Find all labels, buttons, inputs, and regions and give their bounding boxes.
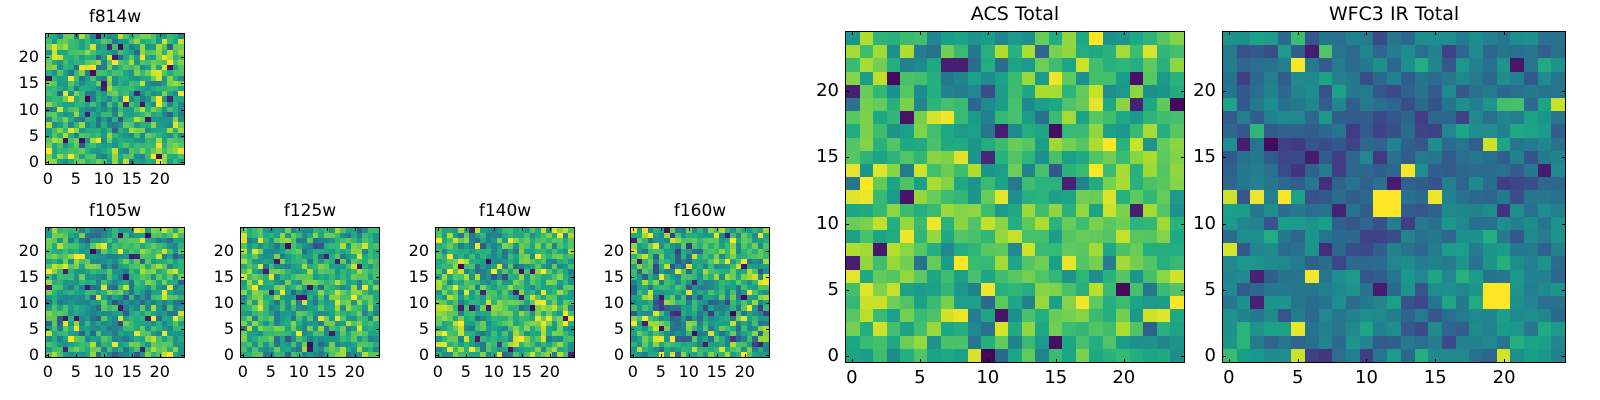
- heatmap-cell: [1538, 72, 1552, 85]
- heatmap-cell: [1387, 243, 1401, 256]
- heatmap-cell: [1049, 45, 1063, 58]
- heatmap-cell: [1237, 296, 1251, 309]
- heatmap-cell: [1103, 230, 1117, 243]
- y-tick: [1222, 356, 1226, 357]
- heatmap-cell: [1076, 45, 1090, 58]
- heatmap-cell: [1237, 72, 1251, 85]
- heatmap-cell: [1264, 58, 1278, 71]
- heatmap-cell: [1401, 111, 1415, 124]
- heatmap-cell: [846, 124, 860, 137]
- heatmap-cell: [941, 138, 955, 151]
- heatmap-cell: [995, 164, 1009, 177]
- heatmap-cell: [1223, 204, 1237, 217]
- heatmap-cell: [846, 256, 860, 269]
- heatmap-cell: [1089, 296, 1103, 309]
- x-tick: [1056, 31, 1057, 35]
- heatmap-cell: [1143, 204, 1157, 217]
- heatmap-cell: [927, 85, 941, 98]
- heatmap-cell: [1442, 230, 1456, 243]
- heatmap-cell: [900, 98, 914, 111]
- heatmap-cell: [981, 138, 995, 151]
- y-tick: [45, 303, 49, 304]
- y-tick: [630, 277, 634, 278]
- x-tick: [1435, 31, 1436, 35]
- heatmap-cell: [981, 309, 995, 322]
- heatmap-cell: [1387, 45, 1401, 58]
- x-tick: [160, 33, 161, 37]
- y-tick: [45, 277, 49, 278]
- heatmap-cell: [1305, 283, 1319, 296]
- heatmap-cell: [995, 243, 1009, 256]
- y-tick: [845, 290, 849, 291]
- y-tick: [1222, 290, 1226, 291]
- heatmap-cell: [900, 204, 914, 217]
- heatmap-cell: [887, 336, 901, 349]
- heatmap-cell: [1035, 98, 1049, 111]
- y-tick: [181, 277, 185, 278]
- heatmap-cell: [1401, 230, 1415, 243]
- heatmap-cell: [1022, 164, 1036, 177]
- heatmap-cell: [1008, 296, 1022, 309]
- heatmap-cell: [1305, 256, 1319, 269]
- x-tick-label: 10: [94, 364, 114, 380]
- heatmap-cell: [1103, 270, 1117, 283]
- heatmap-cell: [1223, 243, 1237, 256]
- heatmap-cell: [1008, 85, 1022, 98]
- heatmap-cell: [1346, 296, 1360, 309]
- heatmap-cell: [1008, 98, 1022, 111]
- heatmap-cell: [1332, 204, 1346, 217]
- heatmap-cell: [846, 322, 860, 335]
- heatmap-cell: [887, 230, 901, 243]
- heatmap-cell: [1237, 151, 1251, 164]
- heatmap-cell: [1291, 270, 1305, 283]
- heatmap-cell: [1524, 98, 1538, 111]
- panel-title-wfc3-ir-total: WFC3 IR Total: [1182, 5, 1600, 24]
- heatmap-cell: [1346, 336, 1360, 349]
- x-tick-label: 20: [150, 171, 170, 187]
- heatmap-cell: [914, 243, 928, 256]
- y-tick: [630, 303, 634, 304]
- heatmap-cell: [873, 45, 887, 58]
- heatmap-cell: [1278, 309, 1292, 322]
- heatmap-cell: [1469, 151, 1483, 164]
- heatmap-cell: [927, 322, 941, 335]
- heatmap-cell: [1035, 151, 1049, 164]
- heatmap-cell: [1483, 58, 1497, 71]
- heatmap-cell: [1524, 349, 1538, 362]
- heatmap-cell: [954, 138, 968, 151]
- heatmap-cell: [1143, 256, 1157, 269]
- heatmap-cell: [1291, 138, 1305, 151]
- heatmap-cell: [1049, 204, 1063, 217]
- heatmap-cell: [1049, 177, 1063, 190]
- heatmap-cell: [1538, 164, 1552, 177]
- heatmap-cell: [1049, 230, 1063, 243]
- heatmap-cell: [1442, 98, 1456, 111]
- heatmap-cell: [1278, 111, 1292, 124]
- y-tick: [766, 277, 770, 278]
- heatmap-cell: [1291, 98, 1305, 111]
- heatmap-cell: [1415, 138, 1429, 151]
- heatmap-cell: [1076, 111, 1090, 124]
- heatmap-cell: [1401, 349, 1415, 362]
- heatmap-cell: [1456, 151, 1470, 164]
- heatmap-cell: [1076, 138, 1090, 151]
- heatmap-cell: [1305, 230, 1319, 243]
- heatmap-cell: [1250, 138, 1264, 151]
- heatmap-cell: [1223, 45, 1237, 58]
- heatmap-cell: [1456, 296, 1470, 309]
- heatmap-cell: [981, 336, 995, 349]
- heatmap-cell: [981, 45, 995, 58]
- heatmap-cell: [1305, 243, 1319, 256]
- heatmap-cell: [1469, 336, 1483, 349]
- heatmap-cell: [1373, 230, 1387, 243]
- x-tick: [243, 227, 244, 231]
- heatmap-cell: [1049, 138, 1063, 151]
- heatmap-cell: [1264, 349, 1278, 362]
- heatmap-cell: [1237, 138, 1251, 151]
- heatmap-cell: [1469, 204, 1483, 217]
- heatmap-cell: [1130, 85, 1144, 98]
- heatmap-cell: [1008, 45, 1022, 58]
- heatmap-cell: [1305, 309, 1319, 322]
- heatmap-cell: [1442, 204, 1456, 217]
- heatmap-cell: [1250, 283, 1264, 296]
- heatmap-cell: [1264, 230, 1278, 243]
- heatmap-cell: [1103, 309, 1117, 322]
- y-tick: [1222, 224, 1226, 225]
- heatmap-cell: [1157, 256, 1171, 269]
- heatmap-cell: [1049, 58, 1063, 71]
- y-tick-label: 10: [395, 295, 429, 311]
- heatmap-cell: [1264, 336, 1278, 349]
- y-tick: [45, 110, 49, 111]
- heatmap-cell: [1332, 45, 1346, 58]
- heatmap-cell: [1319, 349, 1333, 362]
- figure-canvas: f814w0510152005101520f105w05101520051015…: [0, 0, 1600, 400]
- x-tick: [745, 354, 746, 358]
- heatmap-cell: [1538, 322, 1552, 335]
- heatmap-cell: [1305, 349, 1319, 362]
- heatmap-cell: [1035, 85, 1049, 98]
- heatmap-cell: [887, 270, 901, 283]
- heatmap-cell: [1524, 322, 1538, 335]
- heatmap-cell: [1062, 243, 1076, 256]
- heatmap-cell: [1157, 138, 1171, 151]
- heatmap-cell: [1428, 177, 1442, 190]
- heatmap-cell: [1401, 256, 1415, 269]
- heatmap-cell: [873, 138, 887, 151]
- heatmap-cell: [1469, 296, 1483, 309]
- heatmap-cell: [914, 111, 928, 124]
- heatmap-cell: [900, 243, 914, 256]
- heatmap-cell: [1089, 336, 1103, 349]
- heatmap-cell: [1442, 256, 1456, 269]
- y-tick: [181, 83, 185, 84]
- heatmap-cell: [1130, 124, 1144, 137]
- x-tick: [494, 354, 495, 358]
- heatmap-cell: [1538, 204, 1552, 217]
- heatmap-cell: [1373, 322, 1387, 335]
- heatmap-cell: [1415, 164, 1429, 177]
- heatmap-cell: [1291, 204, 1305, 217]
- x-tick: [104, 33, 105, 37]
- heatmap-cell: [1250, 190, 1264, 203]
- heatmap-cell: [1346, 270, 1360, 283]
- y-tick: [571, 251, 575, 252]
- axes-wfc3-ir-total: [1222, 31, 1566, 363]
- heatmap-cell: [846, 58, 860, 71]
- heatmap-cell: [1022, 270, 1036, 283]
- heatmap-cell: [1538, 32, 1552, 45]
- heatmap-cell: [1157, 204, 1171, 217]
- heatmap-cell: [1076, 204, 1090, 217]
- heatmap-cell: [1428, 151, 1442, 164]
- heatmap-cell: [1510, 336, 1524, 349]
- heatmap-cell: [1278, 336, 1292, 349]
- heatmap-cell: [873, 98, 887, 111]
- heatmap-cell: [1291, 336, 1305, 349]
- heatmap-cell: [860, 45, 874, 58]
- x-tick: [689, 354, 690, 358]
- heatmap-cell: [927, 270, 941, 283]
- heatmap-cell: [1264, 217, 1278, 230]
- heatmap-cell: [981, 85, 995, 98]
- heatmap-cell: [1456, 217, 1470, 230]
- y-tick: [240, 303, 244, 304]
- heatmap-cell: [1373, 72, 1387, 85]
- heatmap-cell: [1103, 190, 1117, 203]
- heatmap-cell: [914, 256, 928, 269]
- y-tick: [571, 303, 575, 304]
- heatmap-cell: [1510, 98, 1524, 111]
- x-tick: [132, 227, 133, 231]
- heatmap-cell: [1264, 72, 1278, 85]
- heatmap-cell: [1387, 217, 1401, 230]
- y-tick: [845, 157, 849, 158]
- heatmap-cell: [1497, 72, 1511, 85]
- heatmap-cell: [1538, 85, 1552, 98]
- heatmap-cell: [1401, 58, 1415, 71]
- x-tick-label: 20: [150, 364, 170, 380]
- x-tick: [355, 354, 356, 358]
- heatmap-cell: [1022, 98, 1036, 111]
- heatmap-cell: [1305, 58, 1319, 71]
- heatmap-cell: [1319, 270, 1333, 283]
- heatmap-cell: [995, 45, 1009, 58]
- heatmap-cell: [1319, 72, 1333, 85]
- heatmap-cell: [846, 296, 860, 309]
- heatmap-cell: [1264, 85, 1278, 98]
- heatmap-cell: [1332, 72, 1346, 85]
- heatmap-cell: [981, 296, 995, 309]
- heatmap-cell: [941, 243, 955, 256]
- heatmap-cell: [1510, 230, 1524, 243]
- heatmap-cell: [1456, 72, 1470, 85]
- heatmap-cell: [968, 204, 982, 217]
- heatmap-cell: [873, 204, 887, 217]
- heatmap-cell: [927, 177, 941, 190]
- heatmap-cell: [1022, 243, 1036, 256]
- heatmap-cell: [1237, 309, 1251, 322]
- heatmap-cell: [1524, 111, 1538, 124]
- heatmap-cell: [1157, 336, 1171, 349]
- heatmap-cell: [1387, 204, 1401, 217]
- heatmap-cell: [1305, 322, 1319, 335]
- heatmap-cell: [1456, 243, 1470, 256]
- heatmap-cell: [1456, 98, 1470, 111]
- heatmap-cell: [1319, 217, 1333, 230]
- heatmap-cell: [1130, 230, 1144, 243]
- heatmap-cell: [1062, 190, 1076, 203]
- heatmap-cell: [1415, 204, 1429, 217]
- x-tick-label: 5: [1292, 369, 1303, 387]
- heatmap-cell: [1305, 85, 1319, 98]
- heatmap-cell: [1497, 151, 1511, 164]
- heatmap-cell: [1332, 243, 1346, 256]
- heatmap-cell: [1250, 72, 1264, 85]
- heatmap-cell: [1008, 32, 1022, 45]
- heatmap-cell: [1062, 164, 1076, 177]
- heatmap-cell: [1157, 177, 1171, 190]
- heatmap-cell: [1143, 164, 1157, 177]
- heatmap-cell: [1237, 270, 1251, 283]
- heatmap-cell: [914, 72, 928, 85]
- heatmap-cell: [1089, 230, 1103, 243]
- heatmap-cell: [1373, 98, 1387, 111]
- heatmap-cell: [1237, 32, 1251, 45]
- panel-acs-total: ACS Total0510152005101520: [805, 3, 1225, 399]
- heatmap-cell: [1250, 204, 1264, 217]
- heatmap-cell: [1483, 72, 1497, 85]
- heatmap-cell: [1332, 283, 1346, 296]
- heatmap-cell: [1497, 58, 1511, 71]
- heatmap-cell: [873, 296, 887, 309]
- heatmap-cell: [1387, 256, 1401, 269]
- x-tick-label: 10: [289, 364, 309, 380]
- heatmap-cell: [1264, 32, 1278, 45]
- heatmap-cell: [1442, 32, 1456, 45]
- heatmap-cell: [1250, 98, 1264, 111]
- heatmap-cell: [954, 85, 968, 98]
- heatmap-cell: [1538, 45, 1552, 58]
- heatmap-cell: [1428, 72, 1442, 85]
- x-tick-label: 10: [976, 369, 999, 387]
- heatmap-cell: [900, 336, 914, 349]
- x-tick-label: 15: [1424, 369, 1447, 387]
- heatmap-cell: [1415, 349, 1429, 362]
- heatmap-cell: [1130, 349, 1144, 362]
- heatmap-cell: [954, 151, 968, 164]
- heatmap-acs-total: [846, 32, 1184, 362]
- heatmap-cell: [1524, 336, 1538, 349]
- heatmap-cell: [1538, 309, 1552, 322]
- heatmap-cell: [1456, 45, 1470, 58]
- heatmap-cell: [1130, 111, 1144, 124]
- y-tick: [435, 303, 439, 304]
- heatmap-cell: [1483, 217, 1497, 230]
- heatmap-cell: [1332, 98, 1346, 111]
- x-tick-label: 5: [656, 364, 666, 380]
- heatmap-cell: [954, 177, 968, 190]
- heatmap-cell: [1428, 164, 1442, 177]
- heatmap-cell: [1387, 151, 1401, 164]
- heatmap-cell: [1332, 138, 1346, 151]
- y-tick-label: 15: [5, 269, 39, 285]
- heatmap-cell: [1469, 283, 1483, 296]
- heatmap-cell: [968, 58, 982, 71]
- y-tick: [45, 162, 49, 163]
- x-tick: [1056, 359, 1057, 363]
- heatmap-cell: [927, 164, 941, 177]
- heatmap-cell: [1089, 322, 1103, 335]
- heatmap-cell: [1469, 72, 1483, 85]
- heatmap-cell: [1291, 217, 1305, 230]
- heatmap-cell: [1250, 32, 1264, 45]
- heatmap-cell: [981, 190, 995, 203]
- heatmap-cell: [900, 230, 914, 243]
- heatmap-cell: [1551, 124, 1565, 137]
- heatmap-cell: [873, 336, 887, 349]
- heatmap-cell: [954, 296, 968, 309]
- heatmap-cell: [968, 151, 982, 164]
- heatmap-cell: [1538, 336, 1552, 349]
- heatmap-cell: [1497, 164, 1511, 177]
- heatmap-cell: [1264, 243, 1278, 256]
- y-tick: [766, 303, 770, 304]
- heatmap-cell: [1538, 270, 1552, 283]
- heatmap-cell: [914, 45, 928, 58]
- heatmap-cell: [927, 256, 941, 269]
- heatmap-cell: [1442, 177, 1456, 190]
- heatmap-cell: [1538, 217, 1552, 230]
- heatmap-cell: [887, 322, 901, 335]
- heatmap-cell: [887, 151, 901, 164]
- heatmap-cell: [1049, 309, 1063, 322]
- heatmap-cell: [968, 45, 982, 58]
- heatmap-cell: [1319, 256, 1333, 269]
- heatmap-cell: [968, 111, 982, 124]
- x-tick: [661, 227, 662, 231]
- heatmap-cell: [1062, 270, 1076, 283]
- heatmap-cell: [968, 256, 982, 269]
- heatmap-cell: [1401, 283, 1415, 296]
- heatmap-cell: [927, 72, 941, 85]
- heatmap-cell: [860, 151, 874, 164]
- heatmap-cell: [1223, 58, 1237, 71]
- heatmap-cell: [1319, 190, 1333, 203]
- heatmap-cell: [954, 349, 968, 362]
- y-tick: [1562, 290, 1566, 291]
- heatmap-cell: [1076, 190, 1090, 203]
- heatmap-cell: [1483, 243, 1497, 256]
- heatmap-cell: [1551, 230, 1565, 243]
- heatmap-cell: [1250, 270, 1264, 283]
- heatmap-cell: [1538, 256, 1552, 269]
- heatmap-cell: [1401, 45, 1415, 58]
- heatmap-cell: [873, 349, 887, 362]
- heatmap-cell: [1332, 230, 1346, 243]
- heatmap-cell: [1157, 217, 1171, 230]
- heatmap-cell: [1237, 164, 1251, 177]
- heatmap-cell: [1103, 151, 1117, 164]
- heatmap-cell: [1538, 124, 1552, 137]
- heatmap-cell: [1373, 111, 1387, 124]
- x-tick: [550, 227, 551, 231]
- heatmap-cell: [1264, 322, 1278, 335]
